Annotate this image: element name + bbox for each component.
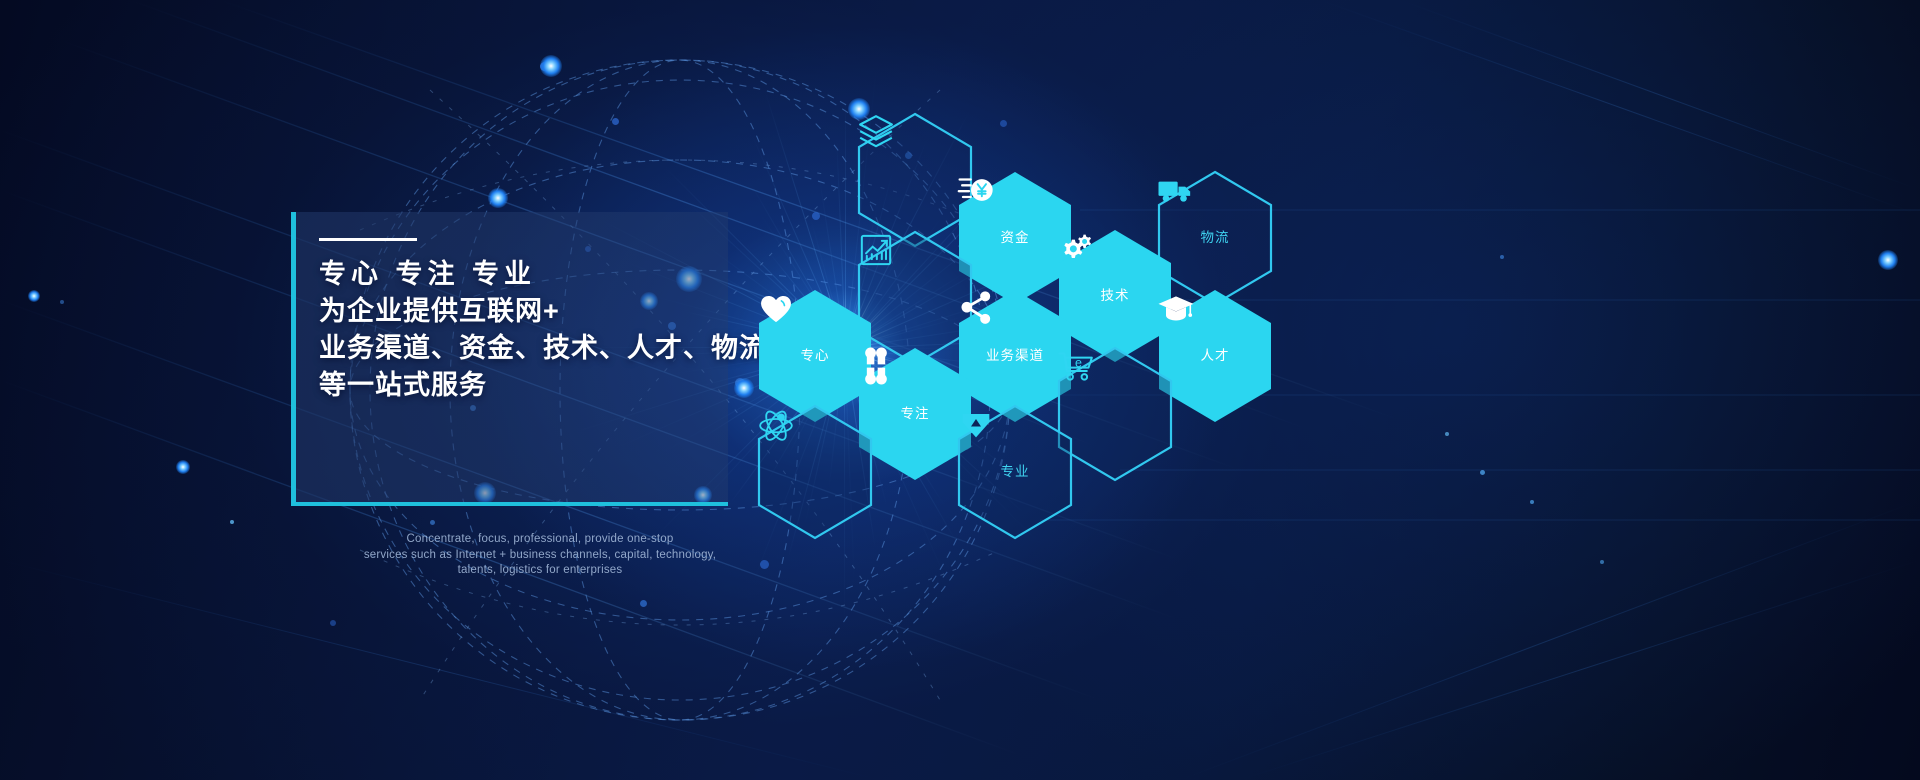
subtitle-line-2: services such as Internet + business cha… bbox=[340, 548, 740, 564]
particle-dot bbox=[1480, 470, 1485, 475]
particle-dot bbox=[640, 600, 647, 607]
glow-particle bbox=[176, 460, 190, 474]
clover-icon bbox=[856, 346, 896, 386]
yen-money-icon bbox=[956, 170, 996, 210]
hex-label: 技术 bbox=[1101, 289, 1130, 303]
subtitle-block: Concentrate, focus, professional, provid… bbox=[340, 532, 740, 579]
hex-label: 业务渠道 bbox=[986, 349, 1044, 363]
hex-label: 专心 bbox=[801, 349, 830, 363]
glow-particle bbox=[488, 188, 508, 208]
particle-dot bbox=[430, 520, 435, 525]
particle-dot bbox=[760, 560, 769, 569]
headline-rule bbox=[319, 238, 417, 241]
particle-dot bbox=[612, 118, 619, 125]
particle-dot bbox=[230, 520, 234, 524]
hex-label: 人才 bbox=[1201, 349, 1230, 363]
particle-dot bbox=[1530, 500, 1534, 504]
hex-label: 专业 bbox=[1001, 465, 1030, 479]
banner-stage: 专心 专注 专业 为企业提供互联网+ 业务渠道、资金、技术、人才、物流 等一站式… bbox=[0, 0, 1920, 780]
hex-label: 专注 bbox=[901, 407, 930, 421]
layers-icon bbox=[856, 112, 896, 152]
shopping-cart-e-icon: e bbox=[1056, 346, 1096, 386]
particle-dot bbox=[330, 620, 336, 626]
hex-label: 物流 bbox=[1201, 231, 1230, 245]
hex-label: 资金 bbox=[1001, 231, 1030, 245]
particle-dot bbox=[1600, 560, 1604, 564]
diamond-icon bbox=[956, 404, 996, 444]
particle-dot bbox=[1500, 255, 1504, 259]
subtitle-line-3: talents, logistics for enterprises bbox=[340, 563, 740, 579]
graduation-cap-icon bbox=[1156, 288, 1196, 328]
headline-line-3: 业务渠道、资金、技术、人才、物流 bbox=[319, 330, 728, 367]
truck-icon bbox=[1156, 170, 1196, 210]
hex-professional[interactable]: 专业 bbox=[956, 404, 1074, 540]
share-nodes-icon bbox=[956, 288, 996, 328]
headline-line-1: 专心 专注 专业 bbox=[319, 256, 728, 293]
glow-particle bbox=[28, 290, 40, 302]
particle-dot bbox=[60, 300, 64, 304]
subtitle-line-1: Concentrate, focus, professional, provid… bbox=[340, 532, 740, 548]
glow-particle bbox=[540, 55, 562, 77]
glow-particle bbox=[1878, 250, 1898, 270]
particle-dot bbox=[540, 62, 549, 71]
hex-atom[interactable] bbox=[756, 404, 874, 540]
headline-panel: 专心 专注 专业 为企业提供互联网+ 业务渠道、资金、技术、人才、物流 等一站式… bbox=[291, 212, 728, 506]
atom-icon bbox=[756, 404, 796, 444]
heart-icon bbox=[756, 288, 796, 328]
headline-line-2: 为企业提供互联网+ bbox=[319, 293, 728, 330]
gears-icon bbox=[1056, 228, 1096, 268]
headline-line-4: 等一站式服务 bbox=[319, 367, 728, 404]
hexagon-cluster: 资金 物流 bbox=[730, 100, 1310, 540]
svg-text:e: e bbox=[1075, 356, 1082, 370]
bar-chart-icon bbox=[856, 230, 896, 270]
particle-dot bbox=[1445, 432, 1449, 436]
